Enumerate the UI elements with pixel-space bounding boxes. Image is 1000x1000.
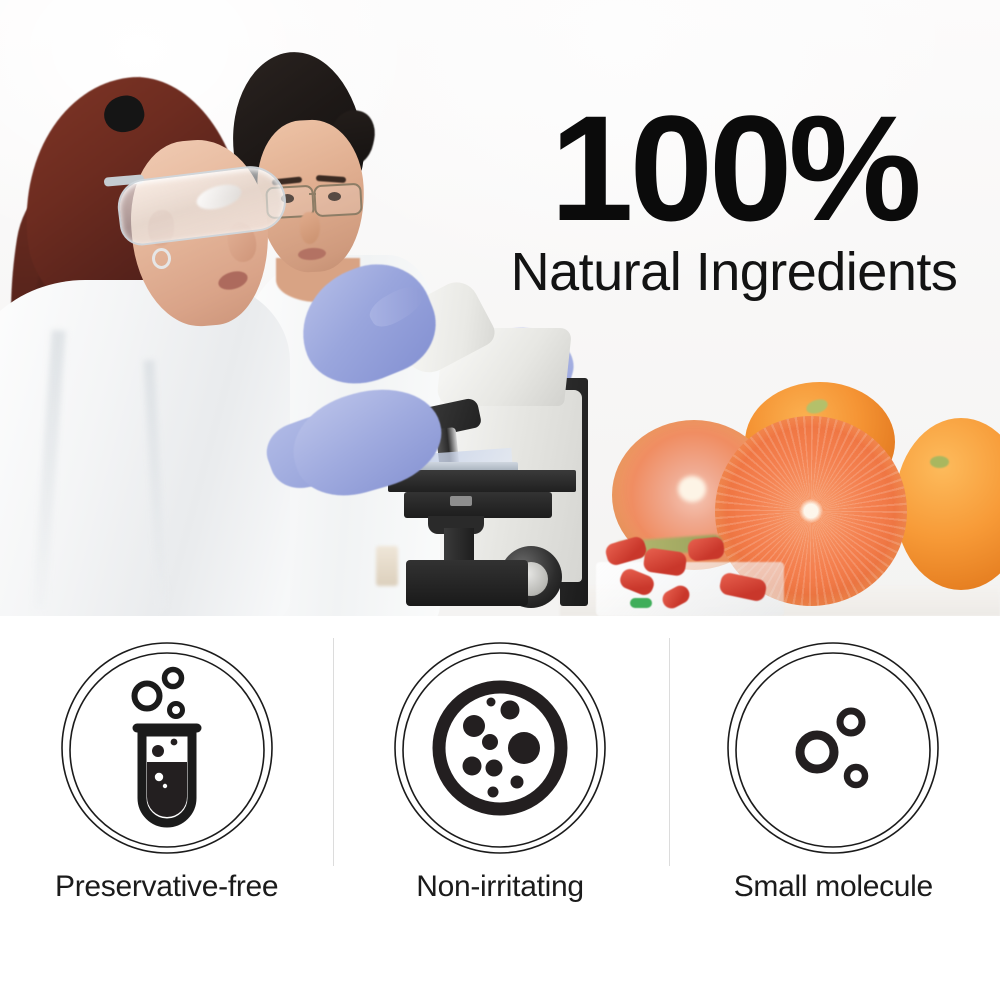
feature-row: Preservative-free xyxy=(0,616,1000,1000)
headline-subtitle: Natural Ingredients xyxy=(508,244,960,301)
orange-stem xyxy=(930,456,949,468)
green-capsule xyxy=(630,598,652,608)
capsule-group xyxy=(600,528,780,610)
headline-block: 100% Natural Ingredients xyxy=(508,96,960,301)
feature-label: Small molecule xyxy=(734,870,933,904)
red-capsule xyxy=(718,571,768,602)
red-capsule xyxy=(604,535,649,567)
scientist-b-eyeglass-bridge xyxy=(309,193,316,195)
red-capsule xyxy=(659,582,692,611)
scientist-b-eyeglass-right xyxy=(313,183,363,217)
petri-dish-with-dots-icon xyxy=(392,640,608,856)
hero-photo: 100% Natural Ingredients xyxy=(0,0,1000,616)
feature-small-molecule: Small molecule xyxy=(667,616,1000,1000)
red-capsule xyxy=(643,547,688,577)
orange-half-left-core xyxy=(678,476,706,502)
small-molecule-rings-icon xyxy=(725,640,941,856)
test-tube-with-bubbles-icon xyxy=(59,640,275,856)
headline-percentage: 100% xyxy=(508,96,960,240)
red-capsule xyxy=(687,536,725,562)
scientist-a-earring xyxy=(152,248,171,269)
microscope-base xyxy=(406,560,528,606)
feature-label: Non-irritating xyxy=(416,870,584,904)
lab-vial xyxy=(376,546,398,586)
feature-preservative-free: Preservative-free xyxy=(0,616,333,1000)
feature-non-irritating: Non-irritating xyxy=(333,616,666,1000)
microscope-stage xyxy=(388,470,576,492)
product-feature-banner: 100% Natural Ingredients xyxy=(0,0,1000,1000)
feature-label: Preservative-free xyxy=(55,870,278,904)
microscope-stage-lower xyxy=(404,492,552,518)
microscope-illuminator xyxy=(450,496,472,506)
